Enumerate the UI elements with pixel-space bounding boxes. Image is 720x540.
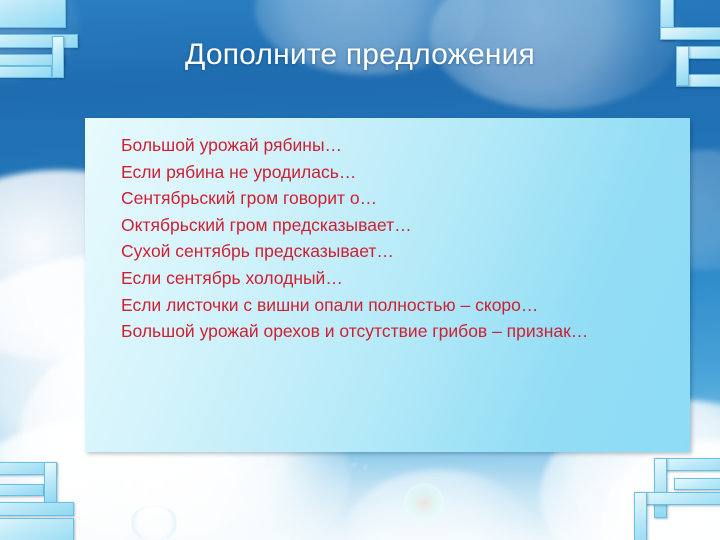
sentence-line: Если рябина не уродилась… (121, 159, 680, 186)
sentence-line: Сентябрьский гром говорит о… (121, 185, 680, 212)
decor-bar (0, 0, 66, 28)
sentence-line: Если сентябрь холодный… (121, 265, 680, 292)
sentence-line: Если листочки с вишни опали полностью – … (121, 292, 680, 319)
decor-bar (44, 462, 57, 504)
decor-bar (0, 502, 74, 516)
sentence-line: Октябрьский гром предсказывает… (121, 212, 680, 239)
sentence-line: Сухой сентябрь предсказывает… (121, 238, 680, 265)
decor-bar (674, 478, 720, 490)
slide-title: Дополните предложения (0, 37, 720, 73)
decor-bar (654, 458, 667, 518)
decor-bar (0, 518, 74, 540)
sentence-line: Большой урожай орехов и отсутствие грибо… (121, 318, 680, 345)
sentence-line: Большой урожай рябины… (121, 132, 680, 159)
slide: Дополните предложения Большой урожай ряб… (0, 0, 720, 540)
decor-bar (0, 484, 44, 496)
content-text-box: Большой урожай рябины… Если рябина не ур… (85, 118, 690, 452)
decor-bar (634, 492, 647, 540)
